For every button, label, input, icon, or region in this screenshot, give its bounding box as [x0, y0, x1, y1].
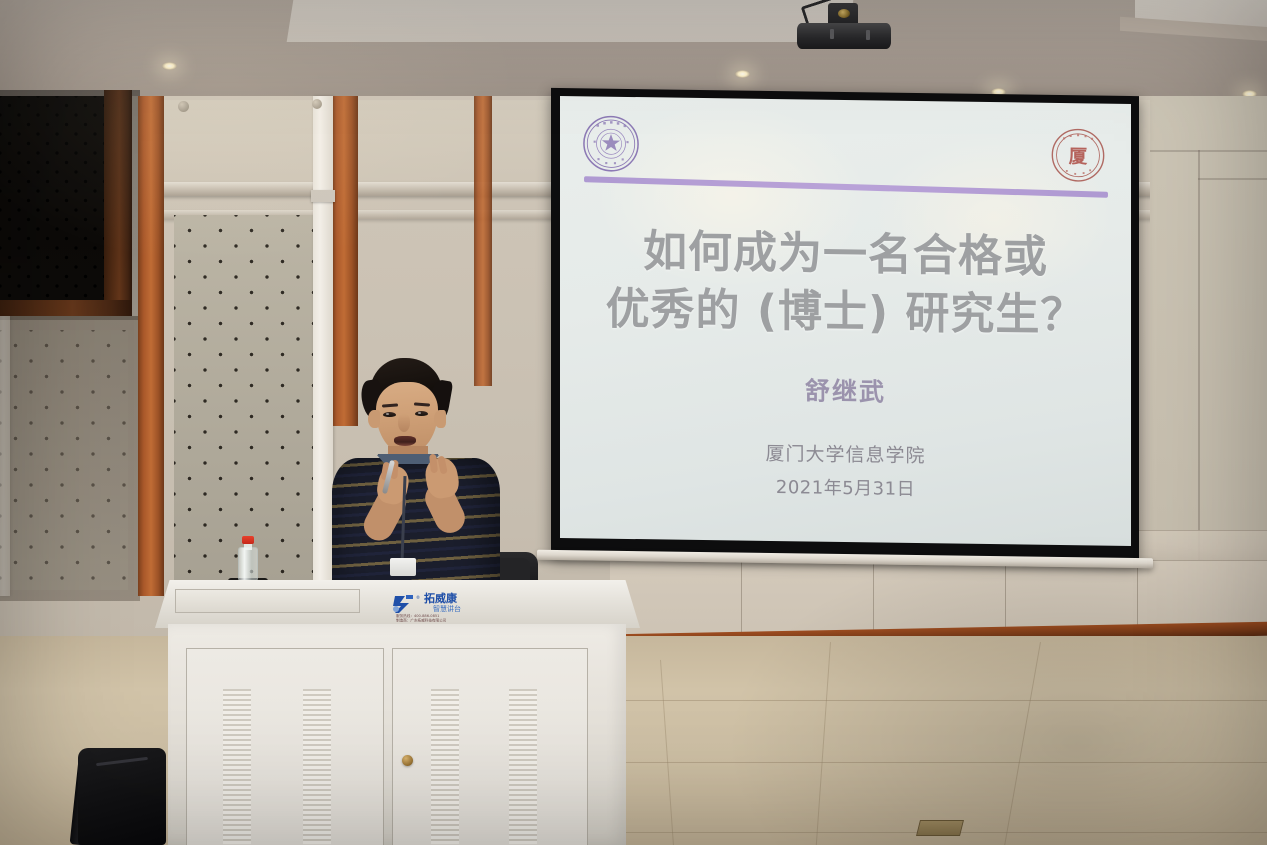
- right-wall-seam-top: [1150, 150, 1267, 152]
- lectern-door-right[interactable]: [392, 648, 588, 845]
- lectern-door-left[interactable]: [186, 648, 384, 845]
- svg-text:®: ®: [416, 595, 420, 600]
- lecture-hall-photo: 厦 如何成为一名合格或 优秀的 (博士) 研究生？: [0, 0, 1267, 845]
- slide-affiliation: 厦门大学信息学院: [560, 436, 1131, 471]
- podium-brand-text-svg: 拓威康: [424, 591, 458, 605]
- projection-screen: 厦 如何成为一名合格或 优秀的 (博士) 研究生？: [551, 92, 1139, 560]
- perforated-acoustic-panel-far-left: [0, 330, 128, 590]
- wall-fixture-round: [178, 101, 189, 112]
- presenter-ear-left: [368, 410, 380, 428]
- wall-white-strip-far-left: [0, 316, 10, 596]
- water-bottle: [236, 536, 260, 582]
- perforated-acoustic-panel-left: [174, 215, 326, 590]
- slide-title-line-1: 如何成为一名合格或: [560, 222, 1131, 288]
- presenter-eye-glint-left: [386, 413, 389, 415]
- projector-body: [797, 23, 891, 49]
- svg-text:厦: 厦: [1069, 147, 1088, 168]
- floor-tile-line: [600, 700, 1267, 701]
- wall-strip-joint: [311, 190, 335, 202]
- slide-title-line-2: 优秀的 (博士) 研究生？: [560, 280, 1131, 346]
- downlight-1: [162, 62, 177, 70]
- wall-panel: [1138, 530, 1267, 562]
- slide-date: 2021年5月31日: [560, 470, 1131, 504]
- svg-text:服务热线：400-886-0851: 服务热线：400-886-0851: [396, 613, 439, 618]
- presenter-striped-polo-shirt: [332, 458, 500, 600]
- bottle-cap: [242, 536, 254, 544]
- lectern-vent-louver: [223, 689, 251, 844]
- lectern-vent-louver: [509, 689, 537, 844]
- ceiling-soffit: [287, 0, 854, 42]
- slide-title: 如何成为一名合格或 优秀的 (博士) 研究生？: [560, 222, 1131, 346]
- tsinghua-university-seal-icon: [582, 114, 640, 173]
- lectern: ® 拓威康 智慧讲台 服务热线：400-886-0851 制造商：广东拓威科技有…: [155, 580, 640, 845]
- svg-text:制造商：广东拓威科技有限公司: 制造商：广东拓威科技有限公司: [396, 617, 447, 622]
- wood-frame-speaker-right: [104, 90, 132, 312]
- presenter-eye-glint-right: [418, 412, 421, 414]
- presentation-slide: 厦 如何成为一名合格或 优秀的 (博士) 研究生？: [560, 96, 1131, 546]
- presenter-mouth: [394, 436, 416, 446]
- screen-surface: 厦 如何成为一名合格或 优秀的 (博士) 研究生？: [560, 96, 1131, 546]
- projector-lens: [838, 9, 850, 18]
- floor-tile-line: [560, 762, 1267, 763]
- wood-column-right: [474, 96, 492, 386]
- right-wall-seam-second: [1198, 178, 1267, 180]
- wall-speaker-panel: [0, 96, 108, 306]
- presenter: [318, 358, 518, 598]
- presenter-eye-right: [415, 411, 428, 416]
- lectern-vent-louver: [431, 689, 459, 844]
- downlight-2: [735, 70, 750, 78]
- projector-vent-1: [830, 29, 834, 39]
- lectern-door-lock[interactable]: [402, 755, 413, 766]
- lectern-control-panel[interactable]: [175, 589, 360, 613]
- lectern-cabinet: [168, 624, 626, 845]
- wood-frame-speaker-bottom: [0, 300, 132, 316]
- presenter-name-badge: [390, 558, 416, 576]
- floor-outlet-box: [916, 820, 964, 836]
- wood-column-left: [138, 96, 164, 596]
- lectern-vent-louver: [303, 689, 331, 844]
- slide-author: 舒继武: [560, 368, 1131, 412]
- wall-fixture-round-2: [312, 99, 322, 109]
- svg-text:智慧讲台: 智慧讲台: [433, 604, 461, 613]
- institute-seal-icon: 厦: [1050, 127, 1106, 184]
- presenter-eye-left: [383, 412, 396, 417]
- bottle-body: [238, 547, 258, 582]
- slide-divider-rule: [584, 176, 1108, 198]
- presenter-nose: [398, 414, 410, 432]
- projector-vent-2: [866, 30, 870, 40]
- presenter-ear-right: [434, 410, 446, 428]
- tuoweikang-logo: ® 拓威康 智慧讲台 服务热线：400-886-0851 制造商：广东拓威科技有…: [391, 589, 511, 622]
